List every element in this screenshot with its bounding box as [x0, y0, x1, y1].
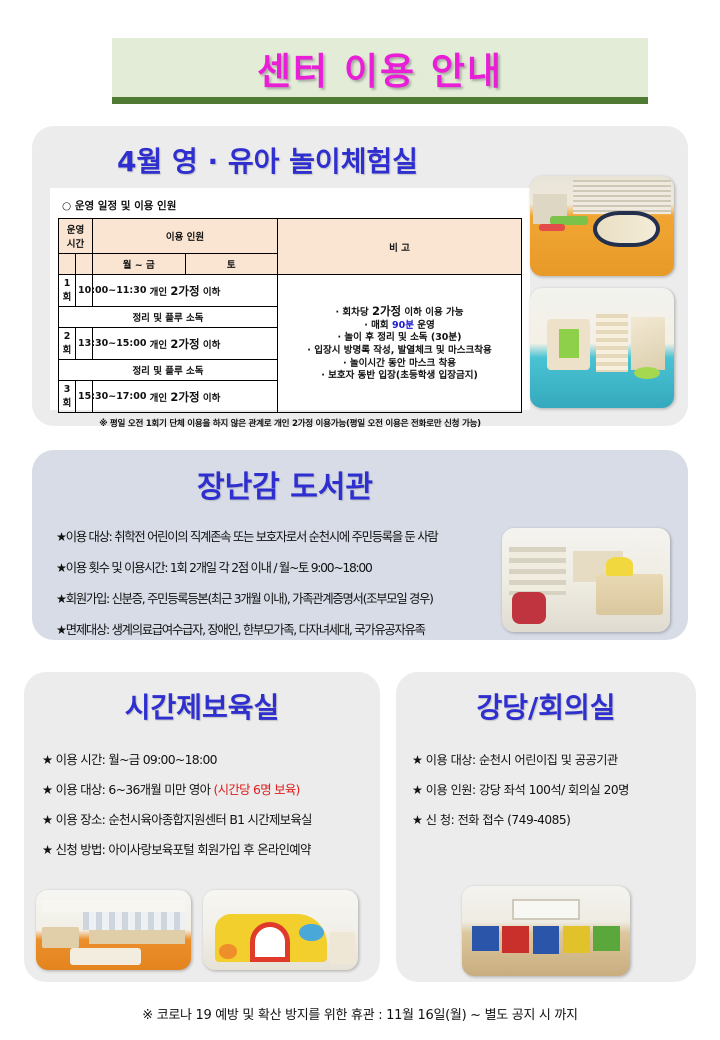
col-header-weekday: 월 ~ 금: [93, 254, 186, 275]
session-time: 10:00~11:30: [76, 275, 93, 307]
hourly-care-bullets: ★ 이용 시간: 월~금 09:00~18:00 ★ 이용 대상: 6~36개월…: [42, 744, 372, 864]
play-room-heading: 4월 영 · 유아 놀이체험실: [32, 126, 688, 180]
list-item: ★회원가입: 신분증, 주민등록등본(최근 3개월 이내), 가족관계증명서(조…: [56, 582, 546, 613]
remark-item: · 입장시 방명록 작성, 발열체크 및 마스크착용: [280, 345, 519, 358]
poster-title-banner: 센터 이용 안내: [112, 38, 648, 104]
capacity-highlight: (시간당 6명 보육): [214, 782, 300, 797]
list-item: ★ 이용 대상: 순천시 어린이집 및 공공기관: [412, 744, 698, 774]
list-item: ★이용 대상: 취학전 어린이의 직계존속 또는 보호자로서 순천시에 주민등록…: [56, 520, 546, 551]
session-label: 1회: [59, 275, 76, 307]
schedule-table: 운영 시간 이용 인원 비 고 월 ~ 금 토 1회 10:00~11:30: [58, 218, 522, 413]
session-time: 13:30~15:00: [76, 328, 93, 360]
list-item: ★ 신 청: 전화 접수 (749-4085): [412, 804, 698, 834]
photo-play-room-tunnel: [530, 176, 674, 276]
session-label: 2회: [59, 328, 76, 360]
hall-meeting-bullets: ★ 이용 대상: 순천시 어린이집 및 공공기관 ★ 이용 인원: 강당 좌석 …: [412, 744, 698, 834]
table-row: 1회 10:00~11:30 개인 2가정 이하 · 회차당 2가정 이하 이용…: [59, 275, 522, 307]
toy-library-heading: 장난감 도서관: [32, 450, 688, 506]
table-footnote: ※ 평일 오전 1회기 단체 이용을 하지 않은 관계로 개인 2가정 이용가능…: [58, 413, 522, 429]
poster-page: 센터 이용 안내 4월 영 · 유아 놀이체험실 ○ 운영 일정 및 이용 인원…: [0, 0, 720, 1040]
table-caption: ○ 운영 일정 및 이용 인원: [58, 196, 522, 218]
list-item: ★ 이용 인원: 강당 좌석 100석/ 회의실 20명: [412, 774, 698, 804]
photo-care-play-structure: [203, 890, 358, 970]
col-header-saturday: 토: [185, 254, 278, 275]
list-item: ★면제대상: 생계의료급여수급자, 장애인, 한부모가족, 다자녀세대, 국가유…: [56, 613, 546, 644]
remark-item: · 보호자 동반 입장(초등학생 입장금지): [280, 370, 519, 383]
hourly-care-heading: 시간제보육실: [24, 672, 380, 726]
page-title: 센터 이용 안내: [257, 41, 503, 95]
remark-item: · 회차당 2가정 이하 이용 가능: [280, 304, 519, 319]
list-item: ★이용 횟수 및 이용시간: 1회 2개일 각 2점 이내 / 월~토 9:00…: [56, 551, 546, 582]
col-header-time: 운영 시간: [59, 219, 93, 254]
play-room-table-card: ○ 운영 일정 및 이용 인원 운영 시간 이용 인원 비 고 월 ~ 금 토: [50, 188, 530, 410]
remarks-cell: · 회차당 2가정 이하 이용 가능 · 매회 90분 운영 · 놀이 후 정리…: [278, 275, 522, 413]
session-label: 3회: [59, 381, 76, 413]
list-item: ★ 신청 방법: 아이사랑보육포털 회원가입 후 온라인예약: [42, 834, 372, 864]
photo-toy-library: [502, 528, 670, 632]
photo-play-room-structure: [530, 288, 674, 408]
cleaning-label: 정리 및 플루 소독: [59, 307, 278, 328]
list-item: ★ 이용 장소: 순천시육아종합지원센터 B1 시간제보육실: [42, 804, 372, 834]
photo-care-classroom: [36, 890, 191, 970]
col-header-remarks: 비 고: [278, 219, 522, 275]
photo-auditorium: [462, 886, 630, 976]
cleaning-label: 정리 및 플루 소독: [59, 360, 278, 381]
hall-meeting-heading: 강당/회의실: [396, 672, 696, 726]
col-header-capacity: 이용 인원: [93, 219, 278, 254]
list-item: ★ 이용 대상: 6~36개월 미만 영아 (시간당 6명 보육): [42, 774, 372, 804]
toy-library-bullets: ★이용 대상: 취학전 어린이의 직계존속 또는 보호자로서 순천시에 주민등록…: [56, 520, 546, 644]
closure-footer-note: ※ 코로나 19 예방 및 확산 방지를 위한 휴관 : 11월 16일(월) …: [0, 1004, 720, 1023]
remark-item: · 놀이시간 동안 마스크 착용: [280, 357, 519, 370]
session-time: 15:30~17:00: [76, 381, 93, 413]
list-item: ★ 이용 시간: 월~금 09:00~18:00: [42, 744, 372, 774]
remark-item: · 놀이 후 정리 및 소독 (30분): [280, 332, 519, 345]
remark-item: · 매회 90분 운영: [280, 319, 519, 332]
